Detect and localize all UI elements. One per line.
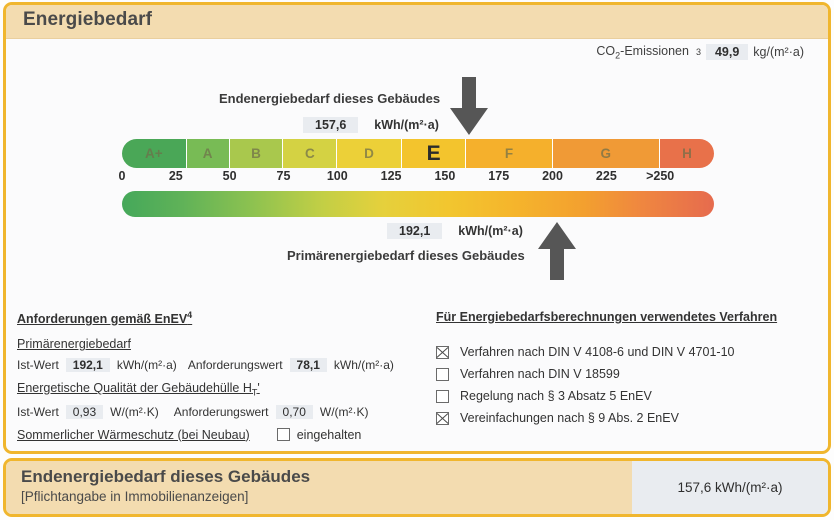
primary-energy-gradient-bar — [122, 191, 714, 217]
class-segment-label: A — [203, 146, 213, 161]
requirements-heading: Anforderungen gemäß EnEV4 — [17, 310, 427, 326]
envelope-subheading: Energetische Qualität der Gebäudehülle H… — [17, 381, 427, 398]
footer-value-box: 157,6 kWh/(m²·a) — [632, 461, 828, 514]
envelope-anf-value: 0,70 — [276, 405, 313, 419]
scale-tick-175: 175 — [488, 169, 509, 183]
class-segment-c: C — [283, 139, 337, 168]
envelope-ist-value: 0,93 — [66, 405, 103, 419]
envelope-anf-unit: W/(m²·K) — [320, 405, 369, 419]
class-segment-label: H — [682, 146, 692, 161]
primary-energy-unit: kWh/(m²·a) — [458, 224, 523, 238]
class-segment-label: D — [364, 146, 374, 161]
procedure-option-3[interactable]: Regelung nach § 3 Absatz 5 EnEV — [436, 389, 826, 403]
primary-ist-unit: kWh/(m²·a) — [117, 358, 177, 372]
energy-certificate-page: Energiebedarf CO2-Emissionen 3 49,9 kg/(… — [0, 0, 834, 520]
requirements-column: Anforderungen gemäß EnEV4 Primärenergieb… — [17, 310, 427, 442]
class-segment-label: B — [251, 146, 261, 161]
class-segment-label: G — [601, 146, 612, 161]
envelope-anf-label: Anforderungswert — [174, 405, 269, 419]
primary-ist-label: Ist-Wert — [17, 358, 59, 372]
primary-anf-unit: kWh/(m²·a) — [334, 358, 394, 372]
final-energy-marker-arrow-down-icon — [449, 77, 489, 142]
class-segment-label: F — [505, 146, 513, 161]
primary-ist-value: 192,1 — [66, 358, 110, 372]
page-title: Energiebedarf — [23, 9, 152, 31]
scale-tick-gt250: >250 — [646, 169, 674, 183]
procedure-checkbox-4[interactable] — [436, 412, 449, 425]
class-segment-e: E — [402, 139, 467, 168]
final-energy-value: 157,6 — [303, 117, 358, 133]
envelope-ist-label: Ist-Wert — [17, 405, 59, 419]
co2-emissions-row: CO2-Emissionen 3 49,9 kg/(m²·a) — [596, 44, 804, 61]
co2-emissions-label: CO2-Emissionen — [596, 44, 689, 61]
footer-band: Endenergiebedarf dieses Gebäudes [Pflich… — [6, 461, 828, 514]
final-energy-value-row: 157,6 kWh/(m²·a) — [303, 117, 439, 133]
footer-value: 157,6 kWh/(m²·a) — [677, 480, 782, 495]
primary-energy-caption: Primärenergiebedarf dieses Gebäudes — [287, 248, 525, 263]
procedure-label-3: Regelung nach § 3 Absatz 5 EnEV — [460, 389, 652, 403]
scale-tick-50: 50 — [223, 169, 237, 183]
mandatory-disclosure-panel: Endenergiebedarf dieses Gebäudes [Pflich… — [3, 458, 831, 517]
class-segment-label: E — [427, 142, 441, 166]
primary-demand-values-row: Ist-Wert 192,1 kWh/(m²·a) Anforderungswe… — [17, 358, 427, 372]
procedure-label-2: Verfahren nach DIN V 18599 — [460, 367, 620, 381]
primary-anf-value: 78,1 — [290, 358, 327, 372]
procedure-label-1: Verfahren nach DIN V 4108-6 und DIN V 47… — [460, 345, 734, 359]
primary-energy-marker-arrow-up-icon — [537, 220, 577, 285]
primary-energy-value-row: 192,1 kWh/(m²·a) — [387, 223, 523, 239]
primary-anf-label: Anforderungswert — [188, 358, 283, 372]
class-segment-f: F — [466, 139, 552, 168]
scale-tick-0: 0 — [119, 169, 126, 183]
class-segment-h: H — [660, 139, 714, 168]
class-segment-aplus: A+ — [122, 139, 187, 168]
final-energy-caption: Endenergiebedarf dieses Gebäudes — [219, 91, 440, 106]
envelope-values-row: Ist-Wert 0,93 W/(m²·K) Anforderungswert … — [17, 405, 427, 419]
summer-protection-row: Sommerlicher Wärmeschutz (bei Neubau) ei… — [17, 428, 427, 442]
class-segment-g: G — [553, 139, 661, 168]
summer-protection-checkbox[interactable] — [277, 428, 290, 441]
procedures-option-list: Verfahren nach DIN V 4108-6 und DIN V 47… — [436, 345, 826, 425]
energy-demand-panel: Energiebedarf CO2-Emissionen 3 49,9 kg/(… — [3, 2, 831, 454]
procedure-label-4: Vereinfachungen nach § 9 Abs. 2 EnEV — [460, 411, 679, 425]
details-section: Anforderungen gemäß EnEV4 Primärenergieb… — [6, 310, 834, 450]
procedure-option-1[interactable]: Verfahren nach DIN V 4108-6 und DIN V 47… — [436, 345, 826, 359]
class-segment-b: B — [230, 139, 284, 168]
energy-scale-chart: Endenergiebedarf dieses Gebäudes 157,6 k… — [6, 65, 834, 295]
class-segment-a: A — [187, 139, 230, 168]
scale-tick-25: 25 — [169, 169, 183, 183]
scale-tick-75: 75 — [277, 169, 291, 183]
envelope-ist-unit: W/(m²·K) — [110, 405, 159, 419]
procedures-column: Für Energiebedarfsberechnungen verwendet… — [436, 310, 826, 433]
requirements-heading-footnote: 4 — [187, 310, 192, 320]
summer-protection-label: eingehalten — [297, 428, 362, 442]
procedure-checkbox-1[interactable] — [436, 346, 449, 359]
efficiency-class-band: A+ABCDEFGH — [122, 139, 714, 168]
co2-emissions-value: 49,9 — [706, 44, 748, 60]
scale-tick-150: 150 — [434, 169, 455, 183]
primary-energy-value: 192,1 — [387, 223, 442, 239]
co2-emissions-unit: kg/(m²·a) — [753, 45, 804, 59]
scale-tick-125: 125 — [381, 169, 402, 183]
footer-text-block: Endenergiebedarf dieses Gebäudes [Pflich… — [21, 467, 310, 504]
procedures-heading: Für Energiebedarfsberechnungen verwendet… — [436, 310, 826, 324]
scale-tick-200: 200 — [542, 169, 563, 183]
class-segment-label: C — [305, 146, 315, 161]
final-energy-unit: kWh/(m²·a) — [374, 118, 439, 132]
footer-title: Endenergiebedarf dieses Gebäudes — [21, 467, 310, 487]
primary-demand-subheading: Primärenergiebedarf — [17, 337, 427, 351]
procedure-checkbox-3[interactable] — [436, 390, 449, 403]
procedure-checkbox-2[interactable] — [436, 368, 449, 381]
class-segment-label: A+ — [145, 146, 163, 161]
procedure-option-4[interactable]: Vereinfachungen nach § 9 Abs. 2 EnEV — [436, 411, 826, 425]
co2-footnote-marker: 3 — [696, 47, 701, 57]
footer-subtitle: [Pflichtangabe in Immobilienanzeigen] — [21, 489, 310, 504]
panel-header-band: Energiebedarf — [6, 5, 828, 39]
scale-tick-225: 225 — [596, 169, 617, 183]
class-segment-d: D — [337, 139, 402, 168]
procedure-option-2[interactable]: Verfahren nach DIN V 18599 — [436, 367, 826, 381]
summer-protection-subheading: Sommerlicher Wärmeschutz (bei Neubau) — [17, 428, 250, 442]
scale-tick-labels: 0255075100125150175200225>250 — [116, 169, 722, 189]
scale-tick-100: 100 — [327, 169, 348, 183]
